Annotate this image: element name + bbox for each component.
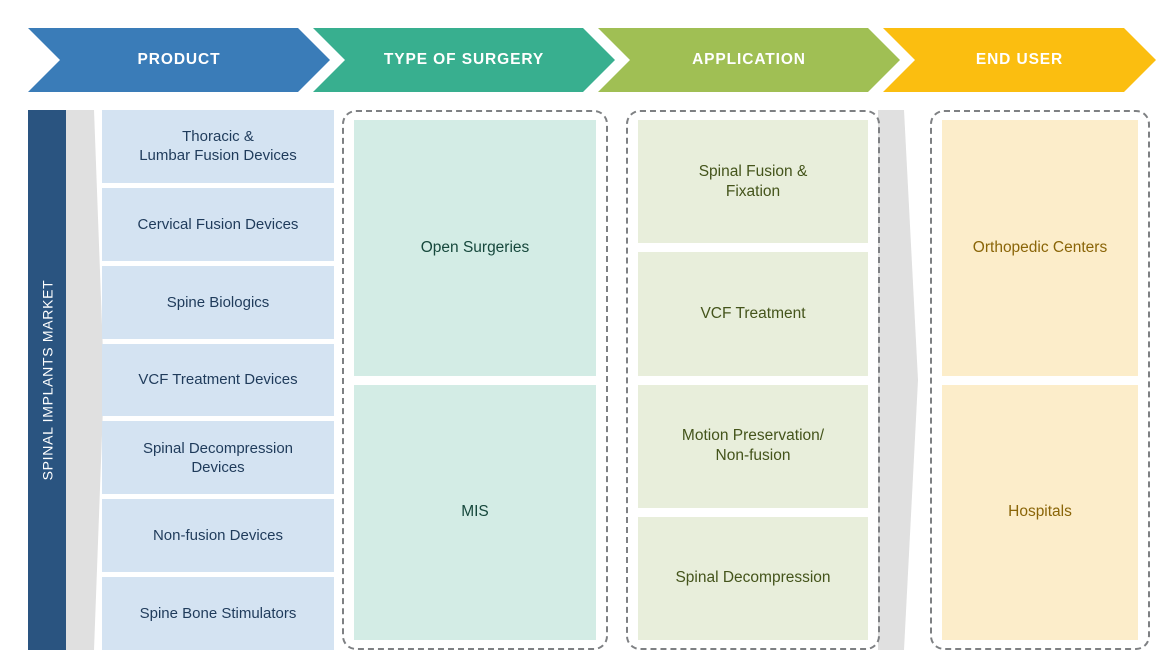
segmentation-diagram: PRODUCT TYPE OF SURGERY APPLICATION END … — [0, 0, 1170, 667]
column-application: Spinal Fusion &Fixation VCF Treatment Mo… — [626, 110, 880, 650]
application-item-0[interactable]: Spinal Fusion &Fixation — [638, 120, 868, 243]
column-product: Thoracic &Lumbar Fusion Devices Cervical… — [102, 110, 334, 650]
banner-chevron-product — [28, 28, 330, 92]
product-item-5[interactable]: Non-fusion Devices — [102, 499, 334, 572]
segment-banner: PRODUCT TYPE OF SURGERY APPLICATION END … — [28, 28, 1156, 92]
product-item-2[interactable]: Spine Biologics — [102, 266, 334, 339]
end-user-item-0[interactable]: Orthopedic Centers — [942, 120, 1138, 376]
end-user-item-1[interactable]: Hospitals — [942, 385, 1138, 641]
product-item-0[interactable]: Thoracic &Lumbar Fusion Devices — [102, 110, 334, 183]
banner-chevron-application — [598, 28, 900, 92]
banner-chevron-end-user — [883, 28, 1156, 92]
application-item-3[interactable]: Spinal Decompression — [638, 517, 868, 640]
market-title-bar: SPINAL IMPLANTS MARKET — [28, 110, 66, 650]
product-item-1[interactable]: Cervical Fusion Devices — [102, 188, 334, 261]
banner-chevron-type-of-surgery — [313, 28, 615, 92]
type-of-surgery-item-1[interactable]: MIS — [354, 385, 596, 641]
market-title-text: SPINAL IMPLANTS MARKET — [39, 280, 55, 481]
connector-arrow-2 — [878, 110, 924, 650]
column-end-user: Orthopedic Centers Hospitals — [930, 110, 1150, 650]
product-item-3[interactable]: VCF Treatment Devices — [102, 344, 334, 417]
column-type-of-surgery: Open Surgeries MIS — [342, 110, 608, 650]
type-of-surgery-item-0[interactable]: Open Surgeries — [354, 120, 596, 376]
application-item-2[interactable]: Motion Preservation/Non-fusion — [638, 385, 868, 508]
product-item-6[interactable]: Spine Bone Stimulators — [102, 577, 334, 650]
connector-arrow-1 — [66, 110, 104, 650]
application-item-1[interactable]: VCF Treatment — [638, 252, 868, 375]
product-item-4[interactable]: Spinal DecompressionDevices — [102, 421, 334, 494]
